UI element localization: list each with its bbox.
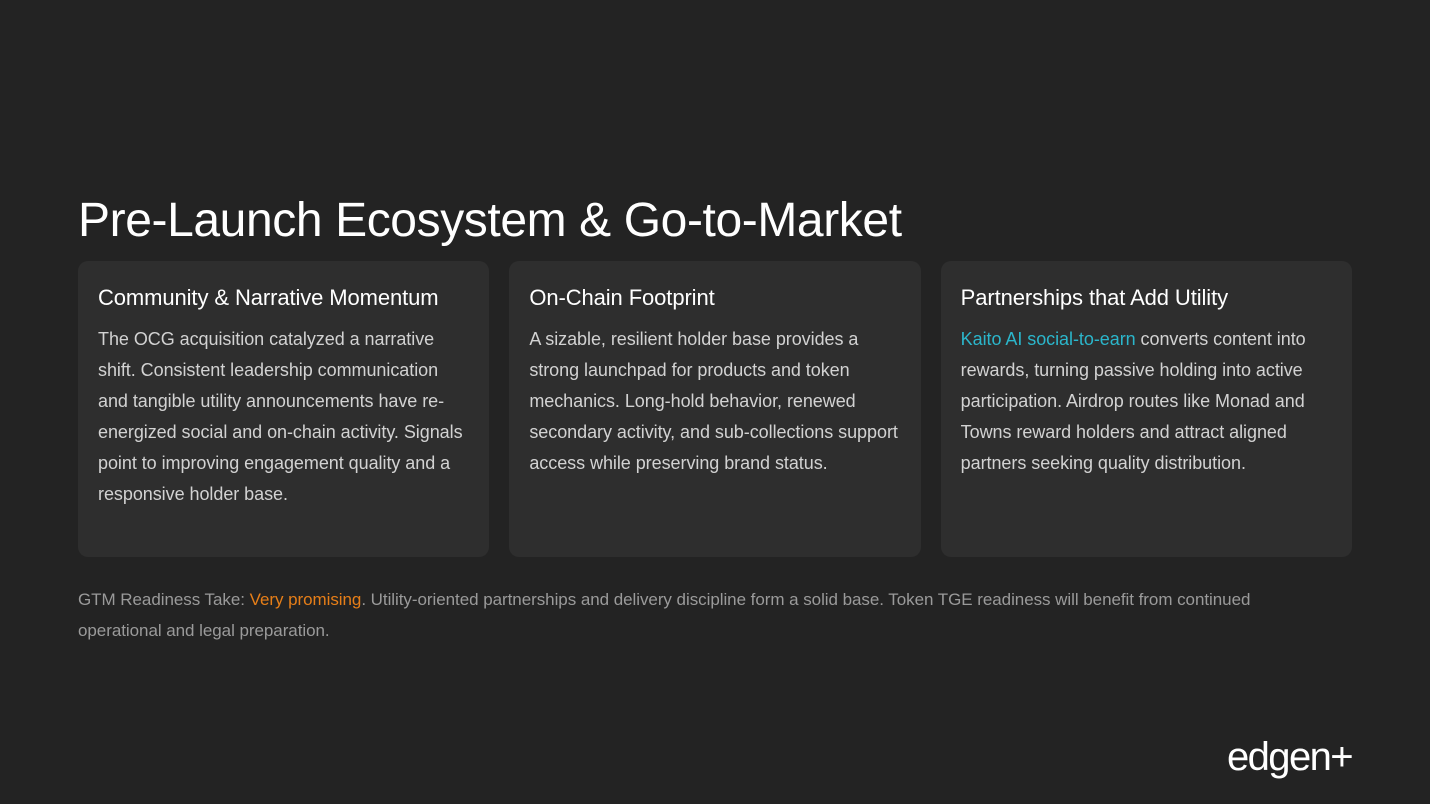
card-partnerships-that-add-utility: Partnerships that Add Utility Kaito AI s… <box>941 261 1352 557</box>
brand-wordmark: edgen+ <box>1227 737 1352 777</box>
kaito-ai-link[interactable]: Kaito AI social-to-earn <box>961 329 1136 349</box>
card-community-narrative-momentum: Community & Narrative Momentum The OCG a… <box>78 261 489 557</box>
card-body: Kaito AI social-to-earn converts content… <box>961 324 1332 479</box>
card-body: A sizable, resilient holder base provide… <box>529 324 900 479</box>
card-title: On-Chain Footprint <box>529 283 900 313</box>
page-title: Pre-Launch Ecosystem & Go-to-Market <box>78 195 902 248</box>
card-title: Partnerships that Add Utility <box>961 283 1332 313</box>
slide-root: Pre-Launch Ecosystem & Go-to-Market Comm… <box>0 0 1430 804</box>
brand-logo: edgen+ <box>1227 735 1352 779</box>
gtm-readiness-note: GTM Readiness Take: Very promising. Util… <box>78 584 1318 646</box>
gtm-readiness-label: GTM Readiness Take: <box>78 590 250 609</box>
card-title: Community & Narrative Momentum <box>98 283 469 313</box>
card-body-rest: converts content into rewards, turning p… <box>961 329 1306 473</box>
card-body: The OCG acquisition catalyzed a narrativ… <box>98 324 469 510</box>
card-on-chain-footprint: On-Chain Footprint A sizable, resilient … <box>509 261 920 557</box>
cards-row: Community & Narrative Momentum The OCG a… <box>78 261 1352 557</box>
gtm-readiness-verdict: Very promising <box>250 590 362 609</box>
